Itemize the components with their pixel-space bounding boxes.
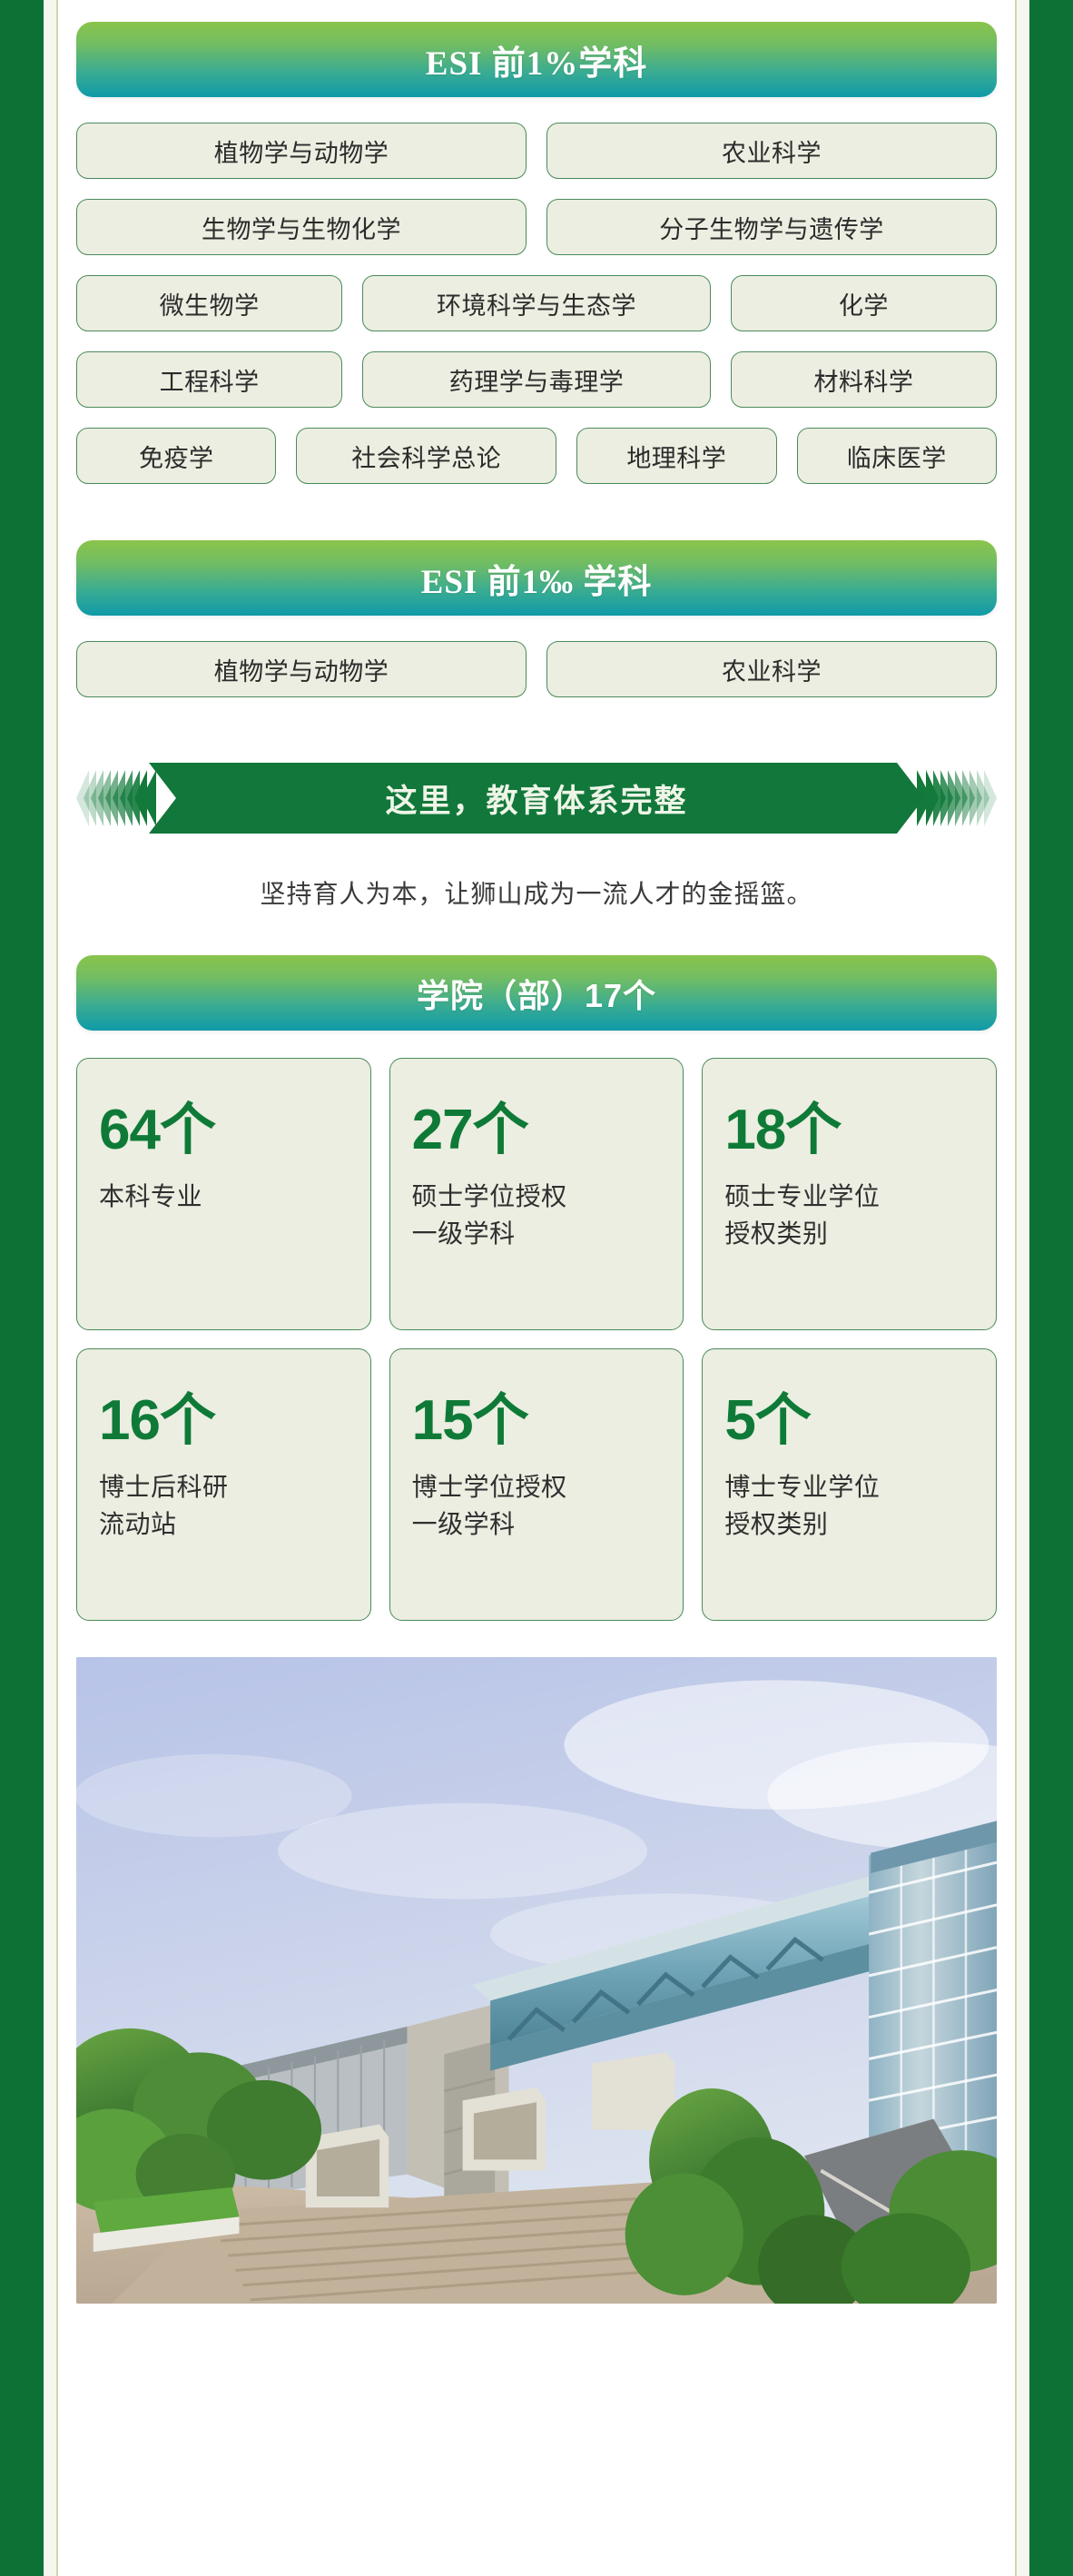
esi-top1permille-tag[interactable]: 植物学与动物学 bbox=[76, 641, 527, 697]
stat-label: 本科专业 bbox=[99, 1179, 349, 1216]
right-decorative-rail bbox=[1029, 0, 1073, 2576]
esi-top1pct-row: 工程科学药理学与毒理学材料科学 bbox=[76, 351, 997, 408]
infographic-page: ESI 前1%学科 植物学与动物学农业科学生物学与生物化学分子生物学与遗传学微生… bbox=[0, 0, 1073, 2576]
stat-label: 硕士专业学位授权类别 bbox=[724, 1179, 974, 1252]
esi-top1pct-tag[interactable]: 临床医学 bbox=[797, 428, 997, 484]
colleges-title: 学院（部）17个 bbox=[417, 970, 656, 1017]
stat-number: 18个 bbox=[724, 1102, 974, 1159]
esi-top1pct-tag[interactable]: 化学 bbox=[731, 275, 997, 331]
esi-top1pct-tag[interactable]: 材料科学 bbox=[731, 351, 997, 408]
esi-top1pct-tag[interactable]: 分子生物学与遗传学 bbox=[546, 199, 997, 255]
stat-card[interactable]: 16个博士后科研流动站 bbox=[76, 1348, 371, 1621]
esi-top1pct-row: 微生物学环境科学与生态学化学 bbox=[76, 275, 997, 331]
colleges-header: 学院（部）17个 bbox=[76, 955, 997, 1031]
education-lead-text: 坚持育人为本，让狮山成为一流人才的金摇篮。 bbox=[76, 875, 997, 913]
stat-card[interactable]: 5个博士专业学位授权类别 bbox=[702, 1348, 997, 1621]
esi-top1pct-title: ESI 前1%学科 bbox=[426, 35, 647, 84]
esi-top1pct-row: 生物学与生物化学分子生物学与遗传学 bbox=[76, 199, 997, 255]
stat-number: 64个 bbox=[99, 1102, 349, 1159]
education-banner-title: 这里，教育体系完整 bbox=[385, 775, 687, 822]
stat-label: 博士学位授权一级学科 bbox=[412, 1469, 662, 1543]
right-rail-gap bbox=[1017, 0, 1029, 2576]
right-chevron-decoration bbox=[931, 770, 997, 826]
esi-top1pct-tag[interactable]: 生物学与生物化学 bbox=[76, 199, 527, 255]
esi-top1permille-tag-list: 植物学与动物学农业科学 bbox=[76, 641, 997, 697]
esi-top1pct-tag[interactable]: 免疫学 bbox=[76, 428, 276, 484]
esi-top1pct-tag[interactable]: 农业科学 bbox=[546, 123, 997, 179]
left-chevron-decoration bbox=[76, 770, 142, 826]
stat-number: 16个 bbox=[99, 1393, 349, 1449]
campus-photo-illustration bbox=[76, 1657, 997, 2304]
esi-top1pct-tag-list: 植物学与动物学农业科学生物学与生物化学分子生物学与遗传学微生物学环境科学与生态学… bbox=[76, 123, 997, 484]
stat-number: 27个 bbox=[412, 1102, 662, 1159]
stat-label: 博士后科研流动站 bbox=[99, 1469, 349, 1543]
left-rail-hairline bbox=[56, 0, 58, 2576]
stat-card[interactable]: 18个硕士专业学位授权类别 bbox=[702, 1058, 997, 1330]
esi-top1pct-tag[interactable]: 环境科学与生态学 bbox=[362, 275, 711, 331]
esi-top1pct-row: 免疫学社会科学总论地理科学临床医学 bbox=[76, 428, 997, 484]
chevron-icon bbox=[984, 770, 997, 826]
education-banner-plate: 这里，教育体系完整 bbox=[149, 763, 924, 834]
esi-top1permille-row: 植物学与动物学农业科学 bbox=[76, 641, 997, 697]
stat-number: 5个 bbox=[724, 1393, 974, 1449]
left-rail-gap bbox=[44, 0, 56, 2576]
stat-number: 15个 bbox=[412, 1393, 662, 1449]
esi-top1pct-tag[interactable]: 地理科学 bbox=[576, 428, 776, 484]
stats-grid: 64个本科专业27个硕士学位授权一级学科18个硕士专业学位授权类别16个博士后科… bbox=[76, 1058, 997, 1621]
stat-card[interactable]: 64个本科专业 bbox=[76, 1058, 371, 1330]
esi-top1pct-tag[interactable]: 工程科学 bbox=[76, 351, 342, 408]
content-column: ESI 前1%学科 植物学与动物学农业科学生物学与生物化学分子生物学与遗传学微生… bbox=[0, 0, 1073, 2314]
esi-top1pct-tag[interactable]: 微生物学 bbox=[76, 275, 342, 331]
esi-top1permille-header: ESI 前1‰ 学科 bbox=[76, 540, 997, 616]
left-decorative-rail bbox=[0, 0, 44, 2576]
stat-label: 硕士学位授权一级学科 bbox=[412, 1179, 662, 1252]
stat-label: 博士专业学位授权类别 bbox=[724, 1469, 974, 1543]
esi-top1pct-tag[interactable]: 社会科学总论 bbox=[296, 428, 556, 484]
esi-top1permille-tag[interactable]: 农业科学 bbox=[546, 641, 997, 697]
esi-top1permille-title: ESI 前1‰ 学科 bbox=[421, 554, 653, 603]
esi-top1pct-tag[interactable]: 药理学与毒理学 bbox=[362, 351, 711, 408]
stat-card[interactable]: 15个博士学位授权一级学科 bbox=[389, 1348, 684, 1621]
right-rail-hairline bbox=[1015, 0, 1017, 2576]
esi-top1pct-tag[interactable]: 植物学与动物学 bbox=[76, 123, 527, 179]
education-banner: 这里，教育体系完整 bbox=[76, 763, 997, 834]
esi-top1pct-row: 植物学与动物学农业科学 bbox=[76, 123, 997, 179]
stat-card[interactable]: 27个硕士学位授权一级学科 bbox=[389, 1058, 684, 1330]
campus-photo bbox=[76, 1657, 997, 2304]
esi-top1pct-header: ESI 前1%学科 bbox=[76, 22, 997, 97]
